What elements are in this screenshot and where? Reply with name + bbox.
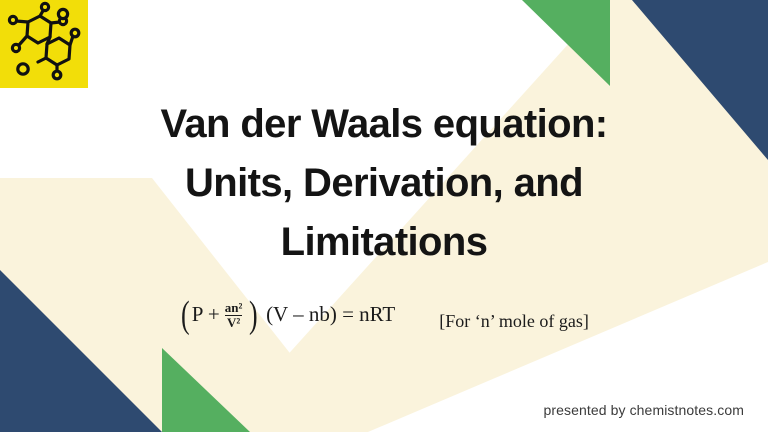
title-line-3: Limitations — [48, 213, 720, 272]
equation-fraction-numerator: an² — [223, 301, 245, 315]
equation-row: ( P + an² V² ) (V – nb) = nRT [For ‘n’ m… — [0, 300, 768, 332]
equation-pressure-term: P + — [192, 302, 220, 327]
van-der-waals-equation: ( P + an² V² ) (V – nb) = nRT — [179, 300, 395, 329]
green-triangle-bottom-left — [162, 348, 250, 432]
equation-fraction-denominator: V² — [225, 315, 242, 330]
title-line-2: Units, Derivation, and — [48, 154, 720, 213]
title-line-1: Van der Waals equation: — [48, 95, 720, 154]
equation-note: [For ‘n’ mole of gas] — [439, 311, 589, 332]
page-title: Van der Waals equation: Units, Derivatio… — [0, 95, 768, 272]
navy-triangle-bottom-left — [0, 270, 162, 432]
brand-logo — [0, 0, 88, 88]
footer-credit: presented by chemistnotes.com — [543, 402, 744, 418]
title-banner: Van der Waals equation: Units, Derivatio… — [0, 0, 768, 432]
green-triangle-top-right — [522, 0, 610, 86]
equation-fraction: an² V² — [223, 301, 245, 330]
molecule-icon — [0, 0, 88, 88]
equation-volume-term: (V – nb) = nRT — [266, 302, 395, 327]
